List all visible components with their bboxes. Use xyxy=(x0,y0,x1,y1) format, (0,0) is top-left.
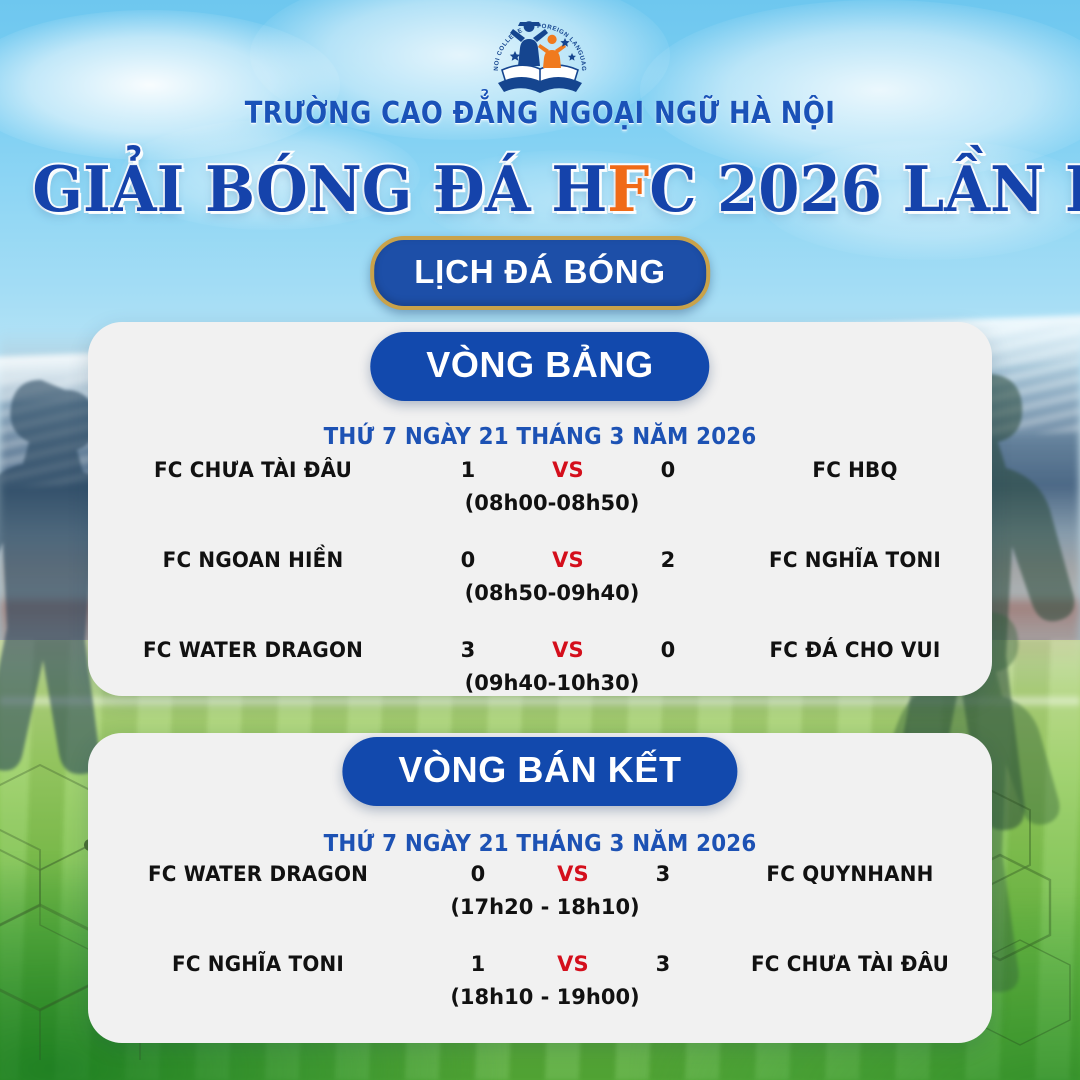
schedule-badge: LỊCH ĐÁ BÓNG xyxy=(370,236,710,310)
round-title-semifinal: VÒNG BÁN KẾT xyxy=(342,737,737,806)
home-team-score: 1 xyxy=(418,458,518,482)
away-team-name: FC HBQ xyxy=(725,458,985,482)
vs-label: VS xyxy=(518,638,618,662)
round-title-group-stage: VÒNG BẢNG xyxy=(370,332,709,401)
graduation-book-logo-icon: HANOI COLLEGE OF FOREIGN LANGUAGES xyxy=(484,8,596,100)
match-row: FC WATER DRAGON 0 VS 3 FC QUYNHANH (17h2… xyxy=(88,862,992,952)
semifinal-match-list: FC WATER DRAGON 0 VS 3 FC QUYNHANH (17h2… xyxy=(88,862,992,1042)
tournament-schedule-poster: HANOI COLLEGE OF FOREIGN LANGUAGES TRƯỜN… xyxy=(0,0,1080,1080)
match-row: FC WATER DRAGON 3 VS 0 FC ĐÁ CHO VUI (09… xyxy=(88,638,992,728)
title-highlight-letter: F xyxy=(607,152,649,226)
cloud-shape xyxy=(0,10,340,160)
vs-label: VS xyxy=(528,952,618,976)
away-team-name: FC QUYNHANH xyxy=(715,862,985,886)
home-team-score: 1 xyxy=(428,952,528,976)
match-row: FC NGHĨA TONI 1 VS 3 FC CHƯA TÀI ĐÂU (18… xyxy=(88,952,992,1042)
match-time: (08h00-08h50) xyxy=(88,491,992,515)
match-time: (17h20 - 18h10) xyxy=(88,895,992,919)
match-date-semifinal: THỨ 7 NGÀY 21 THÁNG 3 NĂM 2026 xyxy=(38,831,1042,857)
vs-label: VS xyxy=(528,862,618,886)
home-team-score: 3 xyxy=(418,638,518,662)
school-logo: HANOI COLLEGE OF FOREIGN LANGUAGES xyxy=(484,8,596,100)
vs-label: VS xyxy=(518,548,618,572)
match-time: (09h40-10h30) xyxy=(88,671,992,695)
away-team-score: 0 xyxy=(618,638,718,662)
away-team-name: FC ĐÁ CHO VUI xyxy=(725,638,985,662)
match-time: (08h50-09h40) xyxy=(88,581,992,605)
school-name: TRƯỜNG CAO ĐẲNG NGOẠI NGỮ HÀ NỘI xyxy=(76,96,1005,131)
away-team-score: 2 xyxy=(618,548,718,572)
match-row: FC CHƯA TÀI ĐÂU 1 VS 0 FC HBQ (08h00-08h… xyxy=(88,458,992,548)
home-team-name: FC NGHĨA TONI xyxy=(97,952,420,976)
away-team-name: FC CHƯA TÀI ĐÂU xyxy=(715,952,985,976)
away-team-name: FC NGHĨA TONI xyxy=(725,548,985,572)
title-part-2: C 2026 LẦN I xyxy=(649,152,1080,226)
home-team-name: FC CHƯA TÀI ĐÂU xyxy=(96,458,410,482)
match-row: FC NGOAN HIỀN 0 VS 2 FC NGHĨA TONI (08h5… xyxy=(88,548,992,638)
away-team-score: 0 xyxy=(618,458,718,482)
home-team-score: 0 xyxy=(428,862,528,886)
home-team-score: 0 xyxy=(418,548,518,572)
page-title: GIẢI BÓNG ĐÁ HFC 2026 LẦN I xyxy=(32,152,1047,226)
match-date-group-stage: THỨ 7 NGÀY 21 THÁNG 3 NĂM 2026 xyxy=(38,424,1042,450)
group-stage-match-list: FC CHƯA TÀI ĐÂU 1 VS 0 FC HBQ (08h00-08h… xyxy=(88,458,992,728)
vs-label: VS xyxy=(518,458,618,482)
title-part-1: GIẢI BÓNG ĐÁ H xyxy=(32,152,607,226)
home-team-name: FC NGOAN HIỀN xyxy=(96,548,410,572)
match-time: (18h10 - 19h00) xyxy=(88,985,992,1009)
home-team-name: FC WATER DRAGON xyxy=(96,638,410,662)
home-team-name: FC WATER DRAGON xyxy=(97,862,420,886)
away-team-score: 3 xyxy=(618,862,708,886)
away-team-score: 3 xyxy=(618,952,708,976)
